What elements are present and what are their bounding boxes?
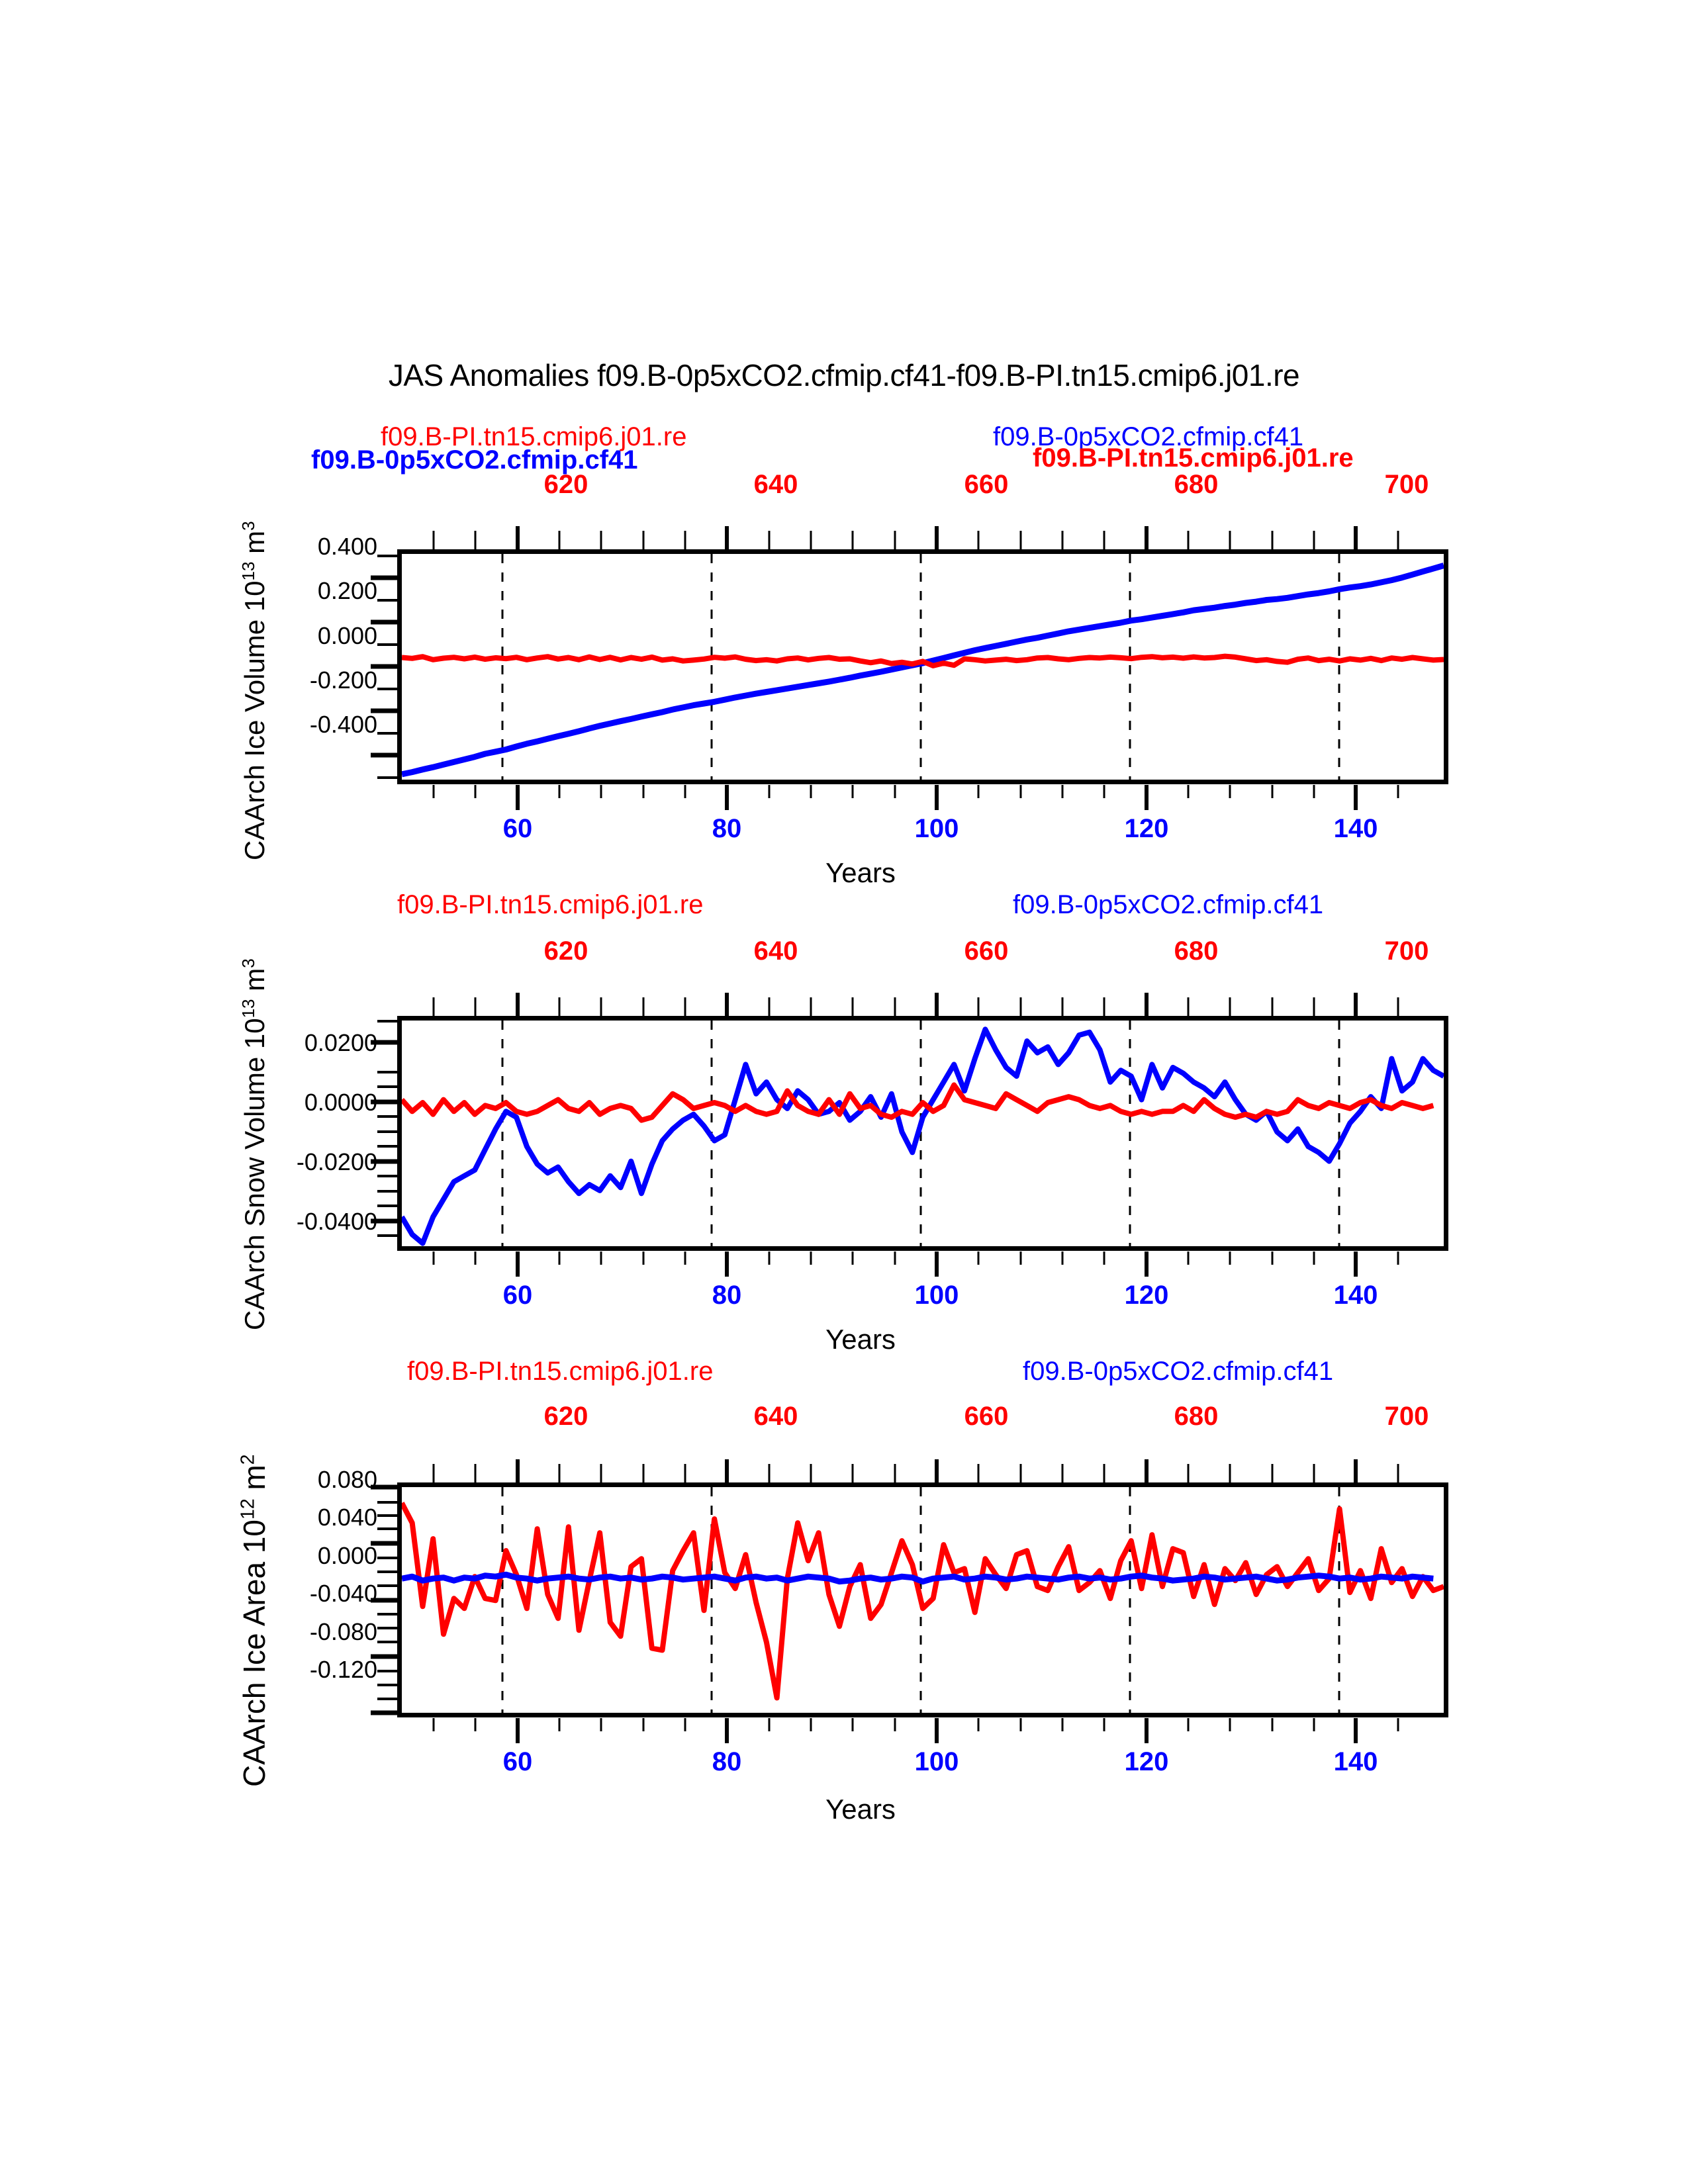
bottom-tick-80-p1: 80 (684, 814, 770, 844)
top-tick-660-p1: 660 (943, 470, 1029, 500)
top-ticks-p3 (397, 1456, 1448, 1484)
top-tick-700-p1: 700 (1364, 470, 1450, 500)
plot-canvas-ice-volume (402, 554, 1444, 780)
ylabel-unit-p1: m (239, 531, 270, 562)
left-ticks-p1 (357, 549, 399, 784)
bottom-tick-140-p1: 140 (1313, 814, 1399, 844)
left-ticks-p2 (357, 1016, 399, 1251)
ylabel-unit-exp-p2: 3 (238, 958, 258, 968)
plot-canvas-ice-area (402, 1487, 1444, 1713)
bottom-ticks-p2 (397, 1250, 1448, 1279)
top-tick-640-p3: 640 (733, 1402, 819, 1432)
figure-page: JAS Anomalies f09.B-0p5xCO2.cfmip.cf41-f… (0, 0, 1688, 2184)
gridlines-p1 (502, 554, 1339, 780)
legend-right-blue-p3: f09.B-0p5xCO2.cfmip.cf41 (1023, 1357, 1333, 1387)
bottom-tick-100-p3: 100 (894, 1747, 980, 1777)
top-tick-700-p3: 700 (1364, 1402, 1450, 1432)
ylabel-unit-p2: m (239, 968, 270, 999)
top-tick-680-p2: 680 (1153, 936, 1239, 966)
legend-right-red-p1: f09.B-PI.tn15.cmip6.j01.re (1033, 443, 1354, 473)
bottom-tick-60-p1: 60 (475, 814, 561, 844)
top-tick-620-p3: 620 (523, 1402, 609, 1432)
gridlines-p2 (502, 1021, 1339, 1246)
ylabel-exp-p1: 13 (238, 561, 258, 580)
bottom-tick-60-p2: 60 (475, 1281, 561, 1310)
top-tick-700-p2: 700 (1364, 936, 1450, 966)
ylabel-unit-p3: m (237, 1465, 271, 1498)
top-ticks-p2 (397, 989, 1448, 1017)
bottom-ticks-p3 (397, 1717, 1448, 1746)
bottom-tick-100-p2: 100 (894, 1281, 980, 1310)
ylabel-text-p3: CAArch Ice Area 10 (237, 1520, 271, 1787)
bottom-tick-100-p1: 100 (894, 814, 980, 844)
legend-left-red-p3: f09.B-PI.tn15.cmip6.j01.re (407, 1357, 713, 1387)
bottom-tick-60-p3: 60 (475, 1747, 561, 1777)
top-tick-640-p2: 640 (733, 936, 819, 966)
plot-frame-snow-volume (397, 1016, 1448, 1251)
legend-left-red-p1: f09.B-PI.tn15.cmip6.j01.re (381, 422, 686, 452)
ylabel-exp-p2: 13 (238, 999, 258, 1018)
series-line-blue-p2 (402, 1029, 1444, 1243)
bottom-tick-80-p3: 80 (684, 1747, 770, 1777)
bottom-tick-120-p2: 120 (1103, 1281, 1190, 1310)
series-line-blue-p1 (402, 566, 1444, 774)
legend-right-blue-p2: f09.B-0p5xCO2.cfmip.cf41 (1013, 890, 1323, 920)
ylabel-exp-p3: 12 (238, 1498, 259, 1520)
top-tick-660-p3: 660 (943, 1402, 1029, 1432)
top-tick-680-p3: 680 (1153, 1402, 1239, 1432)
top-ticks-p1 (397, 523, 1448, 551)
bottom-tick-120-p3: 120 (1103, 1747, 1190, 1777)
ylabel-snow-volume: CAArch Snow Volume 1013 m3 (238, 958, 271, 1330)
bottom-ticks-p1 (397, 784, 1448, 813)
bottom-tick-120-p1: 120 (1103, 814, 1190, 844)
left-ticks-p3 (357, 1482, 399, 1717)
xaxis-label-p2: Years (788, 1324, 933, 1355)
top-tick-660-p2: 660 (943, 936, 1029, 966)
top-tick-620-p1: 620 (523, 470, 609, 500)
legend-left-red-p2: f09.B-PI.tn15.cmip6.j01.re (397, 890, 703, 920)
top-tick-620-p2: 620 (523, 936, 609, 966)
plot-frame-ice-volume (397, 549, 1448, 784)
bottom-tick-140-p3: 140 (1313, 1747, 1399, 1777)
bottom-tick-80-p2: 80 (684, 1281, 770, 1310)
xaxis-label-p3: Years (788, 1794, 933, 1825)
figure-title: JAS Anomalies f09.B-0p5xCO2.cfmip.cf41-f… (0, 357, 1688, 393)
plot-canvas-snow-volume (402, 1021, 1444, 1246)
top-tick-680-p1: 680 (1153, 470, 1239, 500)
ylabel-unit-exp-p3: 2 (238, 1454, 259, 1465)
ylabel-unit-exp-p1: 3 (238, 521, 258, 530)
bottom-tick-140-p2: 140 (1313, 1281, 1399, 1310)
plot-frame-ice-area (397, 1482, 1448, 1717)
series-line-red-p2 (402, 1085, 1433, 1120)
xaxis-label-p1: Years (788, 857, 933, 889)
series-line-red-p3 (402, 1503, 1444, 1698)
top-tick-640-p1: 640 (733, 470, 819, 500)
